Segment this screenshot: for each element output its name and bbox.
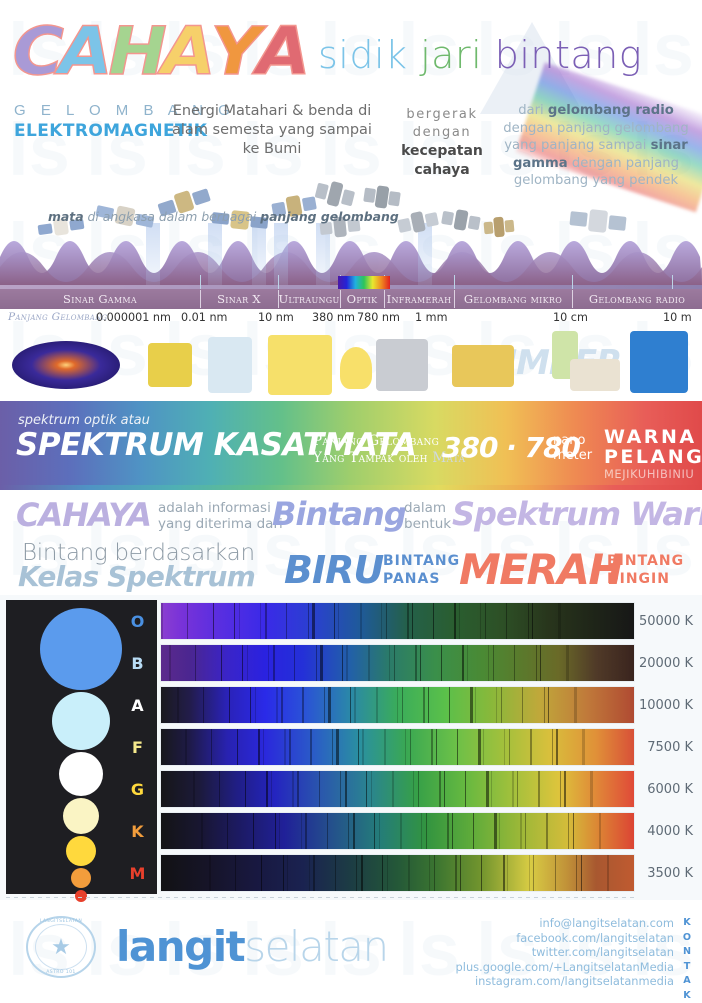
- statement-dalam-l1: dalam: [404, 500, 446, 516]
- star-disc-class-G: [66, 836, 96, 866]
- absorption-line: [532, 603, 533, 639]
- absorption-line: [507, 855, 508, 891]
- absorption-line: [245, 771, 246, 807]
- absorption-line: [392, 771, 394, 807]
- contact-line-3[interactable]: plus.google.com/+LangitselatanMedia: [456, 960, 674, 975]
- absorption-line: [405, 729, 406, 765]
- wavelength-value-4: 780 nm: [357, 311, 400, 324]
- absorption-line: [334, 603, 335, 639]
- spectral-class-label-G: G: [118, 780, 157, 799]
- temperature-label-class-B: 20000 K: [639, 656, 693, 671]
- telescope-light-shaft-3: [274, 223, 288, 285]
- absorption-line: [467, 645, 468, 681]
- galaxy-allsky-map-icon: [12, 341, 120, 389]
- source-icon-row: SUMBER: [0, 329, 702, 401]
- brand-wordmark[interactable]: langitselatan: [116, 922, 388, 971]
- absorption-line: [407, 603, 409, 639]
- absorption-line: [475, 687, 476, 723]
- absorption-line: [255, 687, 256, 723]
- absorption-line: [496, 687, 497, 723]
- absorption-line: [420, 645, 421, 681]
- absorption-line: [556, 729, 557, 765]
- absorption-line: [362, 729, 363, 765]
- absorption-line: [320, 645, 322, 681]
- absorption-line: [512, 771, 513, 807]
- absorption-line: [376, 687, 378, 723]
- absorption-line: [470, 687, 472, 723]
- absorption-line: [271, 771, 272, 807]
- absorption-line: [421, 813, 422, 849]
- kontak-letter-2: N: [680, 945, 694, 960]
- spectrum-strip-class-O: [160, 602, 635, 640]
- absorption-line: [350, 687, 351, 723]
- absorption-line: [428, 687, 429, 723]
- absorption-line: [340, 771, 341, 807]
- absorption-line: [566, 645, 568, 681]
- absorption-line: [522, 687, 523, 723]
- absorption-line: [161, 603, 163, 639]
- absorption-line: [265, 603, 267, 639]
- vis-unit-l1: nano: [553, 433, 585, 448]
- statement-kelas-spektrum: Kelas Spektrum: [18, 560, 255, 593]
- absorption-line: [379, 813, 380, 849]
- vis-mejikuhibiniu: MEJIKUHIBINIU: [604, 467, 694, 481]
- absorption-line: [287, 855, 288, 891]
- absorption-line: [213, 603, 214, 639]
- absorption-line: [354, 687, 355, 723]
- absorption-line: [530, 729, 531, 765]
- spectral-class-label-B: B: [118, 654, 157, 673]
- absorption-line: [250, 687, 251, 723]
- radioactive-symbol-icon: [148, 343, 192, 387]
- em-segment-sinar-x[interactable]: Sinar X: [200, 289, 278, 309]
- absorption-line: [441, 645, 442, 681]
- absorption-line: [292, 771, 293, 807]
- vis-pg-l1b: Gelombang: [368, 433, 439, 449]
- absorption-line: [528, 603, 529, 639]
- absorption-line: [459, 603, 460, 639]
- absorption-line: [382, 855, 383, 891]
- em-segment-sinar-gamma[interactable]: Sinar Gamma: [0, 289, 200, 309]
- absorption-line: [310, 729, 311, 765]
- kontak-letter-1: O: [680, 931, 694, 946]
- absorption-line: [193, 771, 195, 807]
- title-letter-4: Y: [211, 20, 260, 84]
- vis-rainbow-colors: WARNA PELANGI: [604, 427, 702, 467]
- absorption-line: [279, 813, 280, 849]
- brand-langit: langit: [116, 922, 244, 971]
- absorption-line: [538, 771, 539, 807]
- absorption-line: [590, 771, 592, 807]
- absorption-line: [397, 687, 398, 723]
- kontak-letter-0: K: [680, 916, 694, 931]
- wavelength-value-6: 10 cm: [553, 311, 588, 324]
- page-title: CAHAYA: [14, 20, 307, 84]
- spectrum-strip-class-M: [160, 854, 635, 892]
- satellite-caption-bold: mata: [48, 209, 84, 224]
- temperature-label-class-K: 4000 K: [647, 824, 693, 839]
- contact-line-0[interactable]: info@langitselatan.com: [456, 916, 674, 931]
- absorption-line: [286, 603, 287, 639]
- absorption-line: [454, 603, 456, 639]
- absorption-line: [211, 729, 212, 765]
- absorption-line: [371, 771, 372, 807]
- em-tick-6: [672, 275, 673, 289]
- absorption-line: [227, 813, 228, 849]
- em-segment-inframerah[interactable]: Inframerah: [384, 289, 454, 309]
- temperature-label-class-F: 7500 K: [647, 740, 693, 755]
- absorption-line: [275, 813, 276, 849]
- temperature-label-class-O: 50000 K: [639, 614, 693, 629]
- em-spectrum-bar: Sinar GammaSinar XUltraunguOptikInframer…: [0, 285, 702, 309]
- absorption-line: [548, 687, 549, 723]
- absorption-line: [302, 687, 303, 723]
- absorption-line: [481, 855, 482, 891]
- spectral-class-label-O: O: [118, 612, 157, 631]
- em-divider-3: [340, 290, 341, 308]
- absorption-line: [335, 855, 336, 891]
- chart-class-column: OBAFGKM: [118, 600, 157, 894]
- absorption-line: [568, 813, 569, 849]
- visible-spectrum-panel: spektrum optik atau SPEKTRUM KASATMATA P…: [0, 401, 702, 485]
- absorption-line: [494, 813, 496, 849]
- spectrum-strip-class-G: [160, 770, 635, 808]
- statement-cahaya: CAHAYA: [16, 496, 151, 534]
- header: CAHAYA sidik jari bintang G E L O M B A …: [0, 0, 702, 165]
- subtitle-part-2: bintang: [495, 33, 642, 77]
- statement-bp-l1: BINTANG: [383, 553, 460, 569]
- vis-warna-l2: PELANGI: [604, 446, 702, 468]
- absorption-line: [436, 729, 437, 765]
- absorption-line: [452, 813, 453, 849]
- absorption-line: [394, 645, 395, 681]
- absorption-line: [360, 603, 362, 639]
- wavelength-value-2: 10 nm: [258, 311, 294, 324]
- info-rg-b: gelombang radio: [548, 103, 674, 118]
- wavelength-value-3: 380 nm: [312, 311, 355, 324]
- absorption-line: [433, 603, 434, 639]
- absorption-line: [525, 813, 526, 849]
- seal-bottom-text: ASTRO 101: [36, 970, 86, 975]
- chart-bottom-divider: [6, 897, 635, 898]
- absorption-line: [480, 603, 481, 639]
- infrared-heater-icon: [376, 339, 428, 391]
- absorption-line: [493, 645, 494, 681]
- title-letter-0: C: [13, 20, 62, 84]
- title-letter-3: A: [161, 20, 213, 84]
- absorption-line: [387, 855, 388, 891]
- em-tick-0: [200, 275, 201, 289]
- absorption-line: [253, 813, 254, 849]
- absorption-line: [607, 855, 609, 891]
- absorption-line: [581, 855, 582, 891]
- spectral-class-label-K: K: [118, 822, 157, 841]
- absorption-line: [439, 771, 441, 807]
- absorption-line: [294, 645, 295, 681]
- absorption-line: [345, 771, 347, 807]
- em-divider-2: [278, 290, 279, 308]
- uv-sun-tanning-woman-icon: [268, 335, 332, 395]
- absorption-line: [384, 729, 386, 765]
- absorption-line: [402, 687, 403, 723]
- absorption-line: [177, 687, 179, 723]
- vis-unit: nano meter: [553, 433, 592, 463]
- absorption-line: [316, 645, 317, 681]
- absorption-line: [327, 813, 328, 849]
- absorption-line: [503, 855, 505, 891]
- absorption-line: [540, 645, 541, 681]
- radio-receiver-icon: [570, 359, 620, 391]
- absorption-line: [514, 645, 515, 681]
- statement-bd-l1: BINTANG: [607, 553, 684, 569]
- vis-pg-l1a: Panjang: [313, 433, 368, 449]
- absorption-line: [301, 813, 302, 849]
- absorption-line: [283, 855, 284, 891]
- absorption-line: [483, 729, 484, 765]
- absorption-line: [462, 645, 464, 681]
- absorption-line: [266, 771, 267, 807]
- absorption-line: [501, 687, 502, 723]
- spectrum-strip-class-B: [160, 644, 635, 682]
- footer: LANGITSELATAN ★ ASTRO 101 langitselatan …: [0, 900, 702, 995]
- temperature-label-class-M: 3500 K: [647, 866, 693, 881]
- absorption-line: [338, 603, 339, 639]
- absorption-line: [455, 855, 457, 891]
- absorption-line: [573, 813, 574, 849]
- absorption-line: [560, 771, 561, 807]
- contact-line-1[interactable]: facebook.com/langitselatan: [456, 931, 674, 946]
- absorption-line: [258, 729, 259, 765]
- kontak-letter-3: T: [680, 960, 694, 975]
- kontak-letter-4: A: [680, 974, 694, 989]
- spectrum-strip-class-K: [160, 812, 635, 850]
- contact-list: info@langitselatan.comfacebook.com/langi…: [456, 916, 674, 989]
- subtitle-part-0: sidik: [318, 33, 420, 77]
- absorption-line: [308, 603, 309, 639]
- statement-bintang: Bintang: [272, 495, 406, 533]
- seal-centaur-glyph: ★: [51, 936, 71, 958]
- vis-unit-l2: meter: [553, 448, 592, 463]
- page-subtitle: sidik jari bintang: [318, 33, 642, 77]
- absorption-line: [413, 771, 414, 807]
- absorption-line: [449, 687, 450, 723]
- title-letter-2: H: [108, 20, 164, 84]
- info-speed-line1: bergerak dengan: [406, 107, 477, 140]
- infographic-page: CAHAYA sidik jari bintang G E L O M B A …: [0, 0, 702, 1000]
- absorption-line: [429, 855, 430, 891]
- statement-bintang-panas: BINTANG PANAS: [383, 552, 460, 588]
- seal-inner-ring: LANGITSELATAN ★ ASTRO 101: [35, 924, 87, 970]
- statement-spektrum-warna: Spektrum Warna: [452, 495, 702, 533]
- absorption-line: [239, 603, 240, 639]
- temperature-label-class-G: 6000 K: [647, 782, 693, 797]
- absorption-line: [284, 729, 285, 765]
- absorption-line: [381, 603, 382, 639]
- em-tick-4: [454, 275, 455, 289]
- statement-merah: MERAH: [459, 545, 622, 594]
- absorption-line: [499, 813, 500, 849]
- chart-spectrum-column: [160, 600, 635, 894]
- absorption-line: [564, 771, 565, 807]
- satellite-radio-dish-icon: [569, 204, 628, 238]
- wavelength-value-5: 1 mm: [415, 311, 447, 324]
- subtitle-part-1: jari: [420, 33, 495, 77]
- absorption-line: [353, 813, 355, 849]
- absorption-line: [389, 645, 390, 681]
- absorption-line: [203, 687, 204, 723]
- absorption-line: [361, 855, 363, 891]
- absorption-line: [465, 771, 466, 807]
- contact-line-2[interactable]: twitter.com/langitselatan: [456, 945, 674, 960]
- stellar-spectra-chart: OBAFGKM 50000 K20000 K10000 K7500 K6000 …: [0, 595, 702, 900]
- absorption-line: [281, 687, 283, 723]
- optik-rainbow-strip-icon: [338, 276, 390, 289]
- absorption-line: [187, 603, 188, 639]
- statement-bintang-dingin: BINTANG DINGIN: [607, 552, 684, 588]
- absorption-line: [342, 645, 343, 681]
- statement-block: CAHAYA adalah informasi yang diterima da…: [0, 490, 702, 595]
- absorption-line: [423, 687, 425, 723]
- absorption-line: [486, 771, 488, 807]
- temperature-label-class-A: 10000 K: [639, 698, 693, 713]
- em-bar-body: Sinar GammaSinar XUltraunguOptikInframer…: [0, 289, 702, 309]
- absorption-line: [599, 813, 601, 849]
- star-disc-class-O: [40, 608, 122, 690]
- star-disc-class-A: [59, 752, 103, 796]
- absorption-line: [289, 729, 291, 765]
- em-segment-gelombang-radio[interactable]: Gelombang radio: [572, 289, 702, 309]
- absorption-line: [517, 771, 518, 807]
- em-divider-5: [454, 290, 455, 308]
- em-segment-ultraungu[interactable]: Ultraungu: [278, 289, 340, 309]
- contact-line-4[interactable]: instagram.com/langitselatanmedia: [456, 974, 674, 989]
- absorption-line: [544, 687, 545, 723]
- seal-top-text: LANGITSELATAN: [36, 919, 86, 924]
- star-disc-class-K: [71, 868, 91, 888]
- star-disc-class-F: [63, 798, 99, 834]
- satellite-band: mata di angkasa dalam berbagai panjang g…: [0, 165, 702, 285]
- microwave-oven-pizza-icon: [452, 345, 514, 387]
- info-rg-a: dari: [518, 103, 548, 118]
- absorption-line: [169, 645, 171, 681]
- absorption-line: [312, 603, 314, 639]
- absorption-line: [460, 855, 461, 891]
- absorption-line: [536, 645, 537, 681]
- telescope-wmap-icon: [483, 214, 515, 241]
- satellite-caption: mata di angkasa dalam berbagai panjang g…: [48, 209, 399, 224]
- absorption-line: [268, 645, 269, 681]
- absorption-line: [485, 603, 486, 639]
- absorption-line: [336, 729, 338, 765]
- chart-temperature-column: 50000 K20000 K10000 K7500 K6000 K4000 K3…: [635, 600, 697, 894]
- spectrum-strip-class-A: [160, 686, 635, 724]
- statement-adalah-l2: yang diterima dari: [158, 516, 283, 532]
- absorption-line: [209, 855, 211, 891]
- wavelength-value-7: 10 m: [663, 311, 692, 324]
- telescope-light-shaft-1: [208, 223, 222, 285]
- kontak-letter-5: K: [680, 989, 694, 1003]
- header-info-row: G E L O M B A N G ELEKTROMAGNETIK Energi…: [0, 102, 702, 164]
- absorption-line: [555, 855, 556, 891]
- absorption-line: [319, 771, 320, 807]
- title-letter-1: A: [59, 20, 111, 84]
- statement-dalam-l2: bentuk: [404, 516, 451, 532]
- star-disc-class-B: [52, 692, 110, 750]
- vis-pg-l2a: Yang Tampak oleh: [313, 450, 432, 466]
- absorption-line: [488, 645, 489, 681]
- statement-biru: BIRU: [284, 548, 383, 592]
- absorption-line: [506, 603, 507, 639]
- light-bulb-icon: [340, 347, 372, 389]
- xray-body-scan-icon: [208, 337, 252, 393]
- absorption-line: [237, 729, 238, 765]
- absorption-line: [346, 645, 347, 681]
- absorption-line: [509, 729, 510, 765]
- satellite-caption-bold2: panjang gelombang: [260, 209, 399, 224]
- absorption-line: [408, 855, 410, 891]
- em-divider-6: [572, 290, 573, 308]
- em-segment-gelombang-mikro[interactable]: Gelombang mikro: [454, 289, 572, 309]
- absorption-line: [529, 855, 530, 891]
- absorption-line: [313, 855, 315, 891]
- wavelength-row: Panjang Gelombang 0.000001 nm0.01 nm10 n…: [0, 309, 702, 329]
- absorption-line: [305, 813, 307, 849]
- wavelength-value-1: 0.01 nm: [181, 311, 227, 324]
- spectrum-strip-class-F: [160, 728, 635, 766]
- absorption-line: [504, 729, 505, 765]
- absorption-line: [234, 603, 235, 639]
- absorption-line: [533, 855, 534, 891]
- absorption-line: [185, 729, 187, 765]
- statement-bp-l2: PANAS: [383, 571, 440, 587]
- absorption-line: [552, 729, 553, 765]
- statement-bd-l2: DINGIN: [607, 571, 670, 587]
- absorption-line: [276, 687, 277, 723]
- wavelength-value-0: 0.000001 nm: [96, 311, 171, 324]
- langitselatan-seal-logo: LANGITSELATAN ★ ASTRO 101: [26, 916, 96, 978]
- absorption-line: [309, 855, 310, 891]
- absorption-line: [221, 645, 222, 681]
- absorption-line: [546, 813, 547, 849]
- em-divider-1: [200, 290, 201, 308]
- absorption-line: [447, 813, 449, 849]
- statement-adalah: adalah informasi yang diterima dari: [158, 500, 283, 532]
- absorption-line: [368, 645, 370, 681]
- absorption-line: [195, 645, 196, 681]
- statement-dalam: dalam bentuk: [404, 500, 451, 532]
- spectral-class-label-A: A: [118, 696, 157, 715]
- em-segment-optik[interactable]: Optik: [340, 289, 384, 309]
- absorption-line: [348, 813, 349, 849]
- absorption-line: [297, 771, 299, 807]
- absorption-line: [431, 729, 433, 765]
- kontak-vertical-label: KONTAK: [680, 916, 694, 1003]
- title-letter-5: A: [256, 20, 308, 84]
- absorption-line: [434, 855, 435, 891]
- wavelength-label: Panjang Gelombang: [8, 311, 107, 323]
- radio-tower-icon: [630, 331, 688, 393]
- absorption-line: [261, 855, 262, 891]
- satellite-caption-rest: di angkasa dalam berbagai: [84, 209, 261, 224]
- absorption-line: [582, 729, 584, 765]
- brand-selatan: selatan: [244, 922, 387, 971]
- absorption-line: [219, 771, 220, 807]
- vis-warna-l1: WARNA: [604, 426, 697, 448]
- absorption-line: [415, 645, 417, 681]
- absorption-line: [260, 603, 261, 639]
- absorption-line: [491, 771, 492, 807]
- absorption-line: [418, 771, 419, 807]
